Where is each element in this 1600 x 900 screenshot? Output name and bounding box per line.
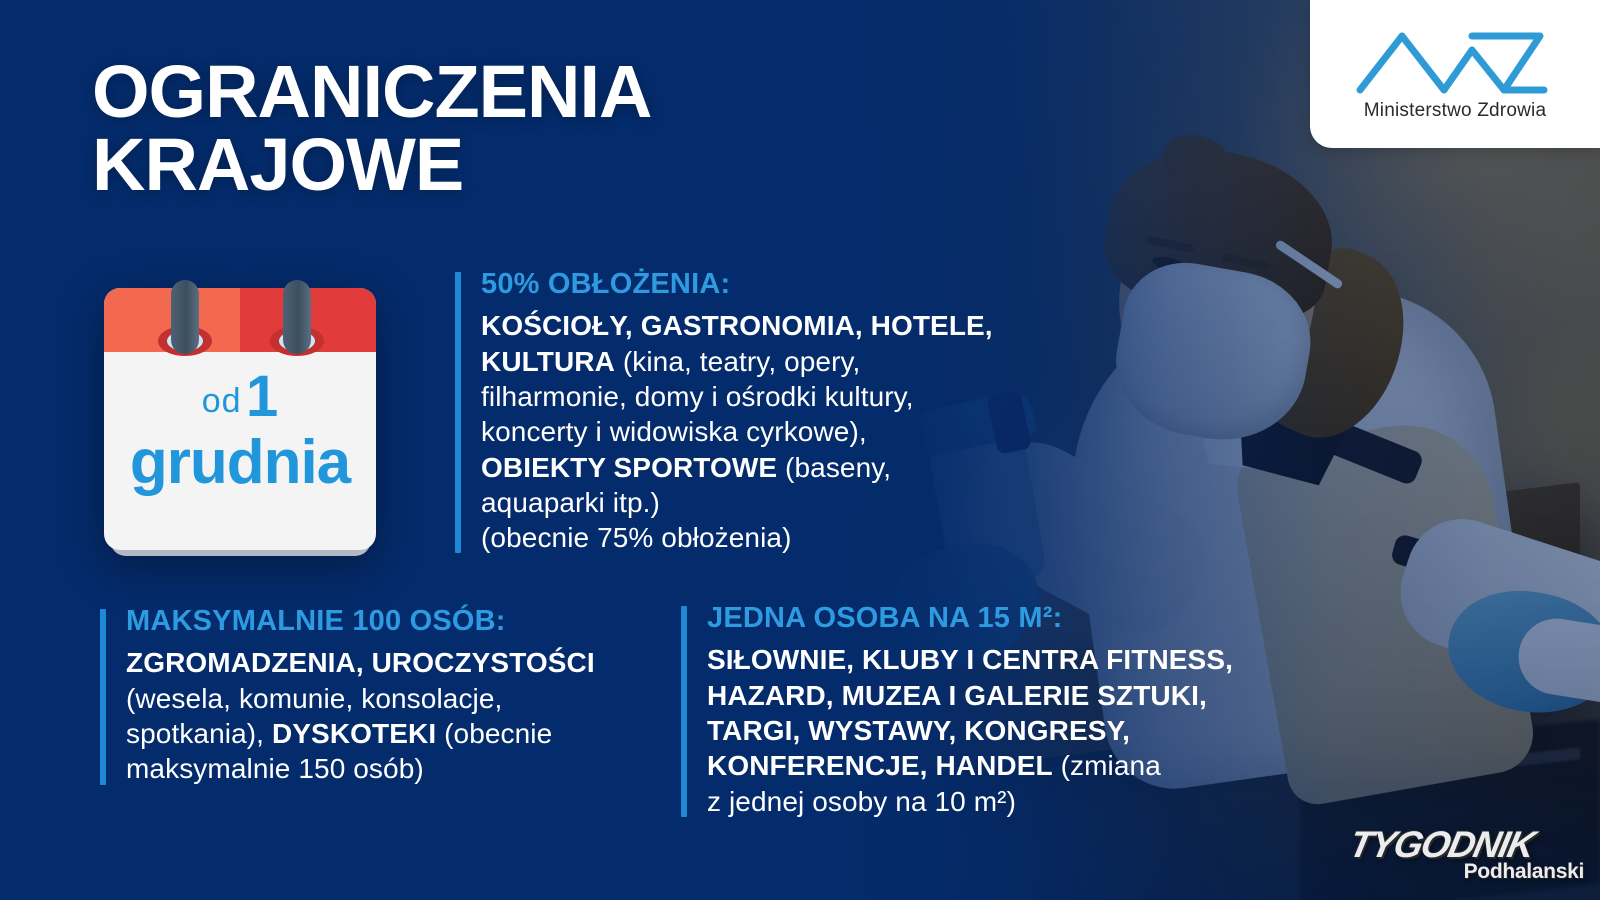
calendar-month: grudnia [104,432,376,494]
block-area-limit-body: SIŁOWNIE, KLUBY I CENTRA FITNESS,HAZARD,… [707,642,1307,818]
calendar-day: 1 [246,364,278,429]
text-line-3: filharmonie, domy i ośrodki kultury, [481,379,1041,414]
block-occupancy-heading: 50% OBŁOŻENIA: [481,268,1041,300]
text-line-4: KONFERENCJE, HANDEL (zmiana [707,748,1307,783]
text-line-1: ZGROMADZENIA, UROCZYSTOŚCI [126,645,686,680]
watermark: TYGODNIK Podhalanski [1350,820,1586,886]
calendar-prefix: od [202,382,242,420]
text-line-4: maksymalnie 150 osób) [126,751,686,786]
calendar-ring-right [270,326,324,356]
text-line-3: spotkania), DYSKOTEKI (obecnie [126,716,686,751]
calendar-spiral-right [283,280,311,354]
text-line-7: (obecnie 75% obłożenia) [481,520,1041,555]
mz-logo-icon [1354,26,1554,98]
calendar-date-text: od 1 grudnia [104,368,376,494]
text-line-2: (wesela, komunie, konsolacje, [126,681,686,716]
text-line-3: TARGI, WYSTAWY, KONGRESY, [707,713,1307,748]
calendar-line-day: od 1 [104,368,376,426]
text-line-5: OBIEKTY SPORTOWE (baseny, [481,450,1041,485]
text-line-2: KULTURA (kina, teatry, opery, [481,344,1041,379]
ministry-logo: Ministerstwo Zdrowia [1310,0,1600,148]
calendar-spiral-left [171,280,199,354]
text-line-2: HAZARD, MUZEA I GALERIE SZTUKI, [707,678,1307,713]
block-area-limit: JEDNA OSOBA NA 15 M²: SIŁOWNIE, KLUBY I … [681,602,1307,819]
block-occupancy-body: KOŚCIOŁY, GASTRONOMIA, HOTELE,KULTURA (k… [481,308,1041,555]
infographic-content: OGRANICZENIA KRAJOWE od 1 grudnia 50% OB… [0,0,1600,900]
text-line-4: koncerty i widowiska cyrkowe), [481,414,1041,449]
text-line-5: z jednej osoby na 10 m²) [707,784,1307,819]
calendar-ring-left [158,326,212,356]
calendar-header-strip [104,288,376,352]
block-gatherings: MAKSYMALNIE 100 OSÓB: ZGROMADZENIA, UROC… [100,605,686,787]
watermark-sub-text: Podhalanski [1464,860,1584,884]
block-gatherings-body: ZGROMADZENIA, UROCZYSTOŚCI(wesela, komun… [126,645,686,786]
text-line-1: SIŁOWNIE, KLUBY I CENTRA FITNESS, [707,642,1307,677]
accent-bar-area-limit [681,606,687,817]
accent-bar-occupancy [455,272,461,553]
text-line-6: aquaparki itp.) [481,485,1041,520]
ministry-logo-name: Ministerstwo Zdrowia [1310,100,1600,122]
block-occupancy: 50% OBŁOŻENIA: KOŚCIOŁY, GASTRONOMIA, HO… [455,268,1041,555]
calendar-icon: od 1 grudnia [104,288,376,550]
accent-bar-gatherings [100,609,106,785]
page-title: OGRANICZENIA KRAJOWE [92,56,651,201]
text-line-1: KOŚCIOŁY, GASTRONOMIA, HOTELE, [481,308,1041,343]
block-area-limit-heading: JEDNA OSOBA NA 15 M²: [707,602,1307,634]
block-gatherings-heading: MAKSYMALNIE 100 OSÓB: [126,605,686,637]
